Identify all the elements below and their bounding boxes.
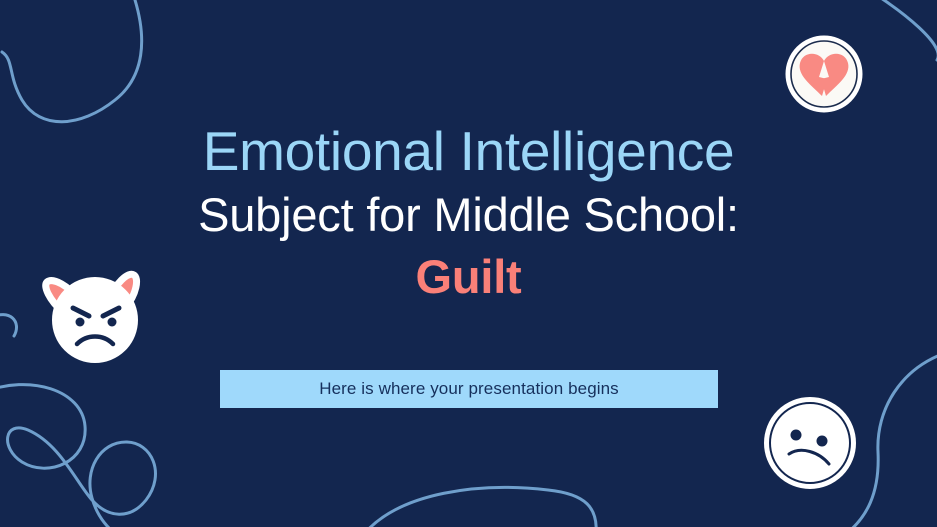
broken-heart-icon: [783, 33, 865, 115]
subtitle-text: Here is where your presentation begins: [319, 379, 619, 399]
title-line-primary: Emotional Intelligence: [0, 118, 937, 184]
doodle-bottom-left: [0, 385, 155, 527]
doodle-right-edge: [846, 352, 937, 527]
doodle-top-left: [2, 0, 142, 122]
subtitle-banner: Here is where your presentation begins: [220, 370, 718, 408]
doodle-top-right: [862, 0, 937, 60]
doodle-left-middle: [0, 315, 17, 336]
angry-devil-face-icon: [33, 256, 153, 368]
presentation-title-slide: Emotional Intelligence Subject for Middl…: [0, 0, 937, 527]
sad-face-icon: [761, 394, 859, 492]
title-line-secondary: Subject for Middle School:: [0, 184, 937, 246]
doodle-bottom-center: [364, 487, 596, 527]
